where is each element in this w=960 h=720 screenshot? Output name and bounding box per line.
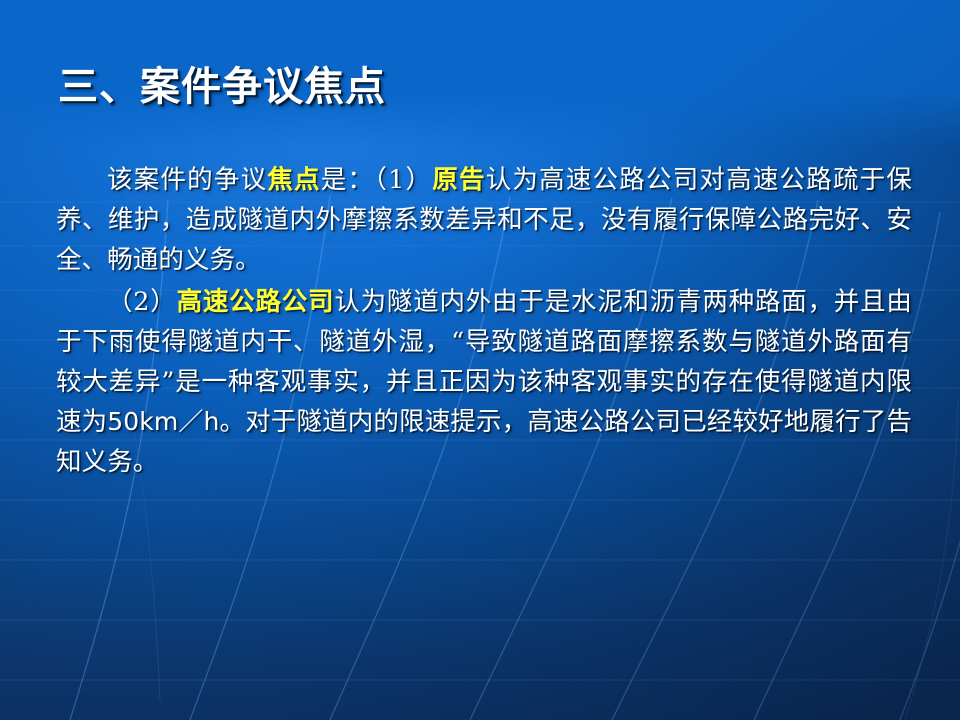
body-text: 50km／h	[107, 407, 219, 436]
slide-title: 三、案件争议焦点	[58, 64, 386, 110]
slide-body: 该案件的争议焦点是：（1）原告认为高速公路公司对高速公路疏于保养、维护，造成隧道…	[56, 160, 912, 482]
paragraph-1: 该案件的争议焦点是：（1）原告认为高速公路公司对高速公路疏于保养、维护，造成隧道…	[56, 160, 912, 280]
paragraph-2: （2）高速公路公司认为隧道内外由于是水泥和沥青两种路面，并且由于下雨使得隧道内干…	[56, 282, 912, 482]
body-text: 是：（1）	[321, 165, 433, 195]
highlighted-text: 高速公路公司	[177, 287, 335, 317]
presentation-slide: 三、案件争议焦点 该案件的争议焦点是：（1）原告认为高速公路公司对高速公路疏于保…	[0, 0, 960, 720]
highlighted-text: 原告	[432, 165, 485, 195]
body-text: （2）	[107, 287, 177, 317]
body-text: 该案件的争议	[107, 165, 267, 195]
highlighted-text: 焦点	[267, 165, 320, 195]
